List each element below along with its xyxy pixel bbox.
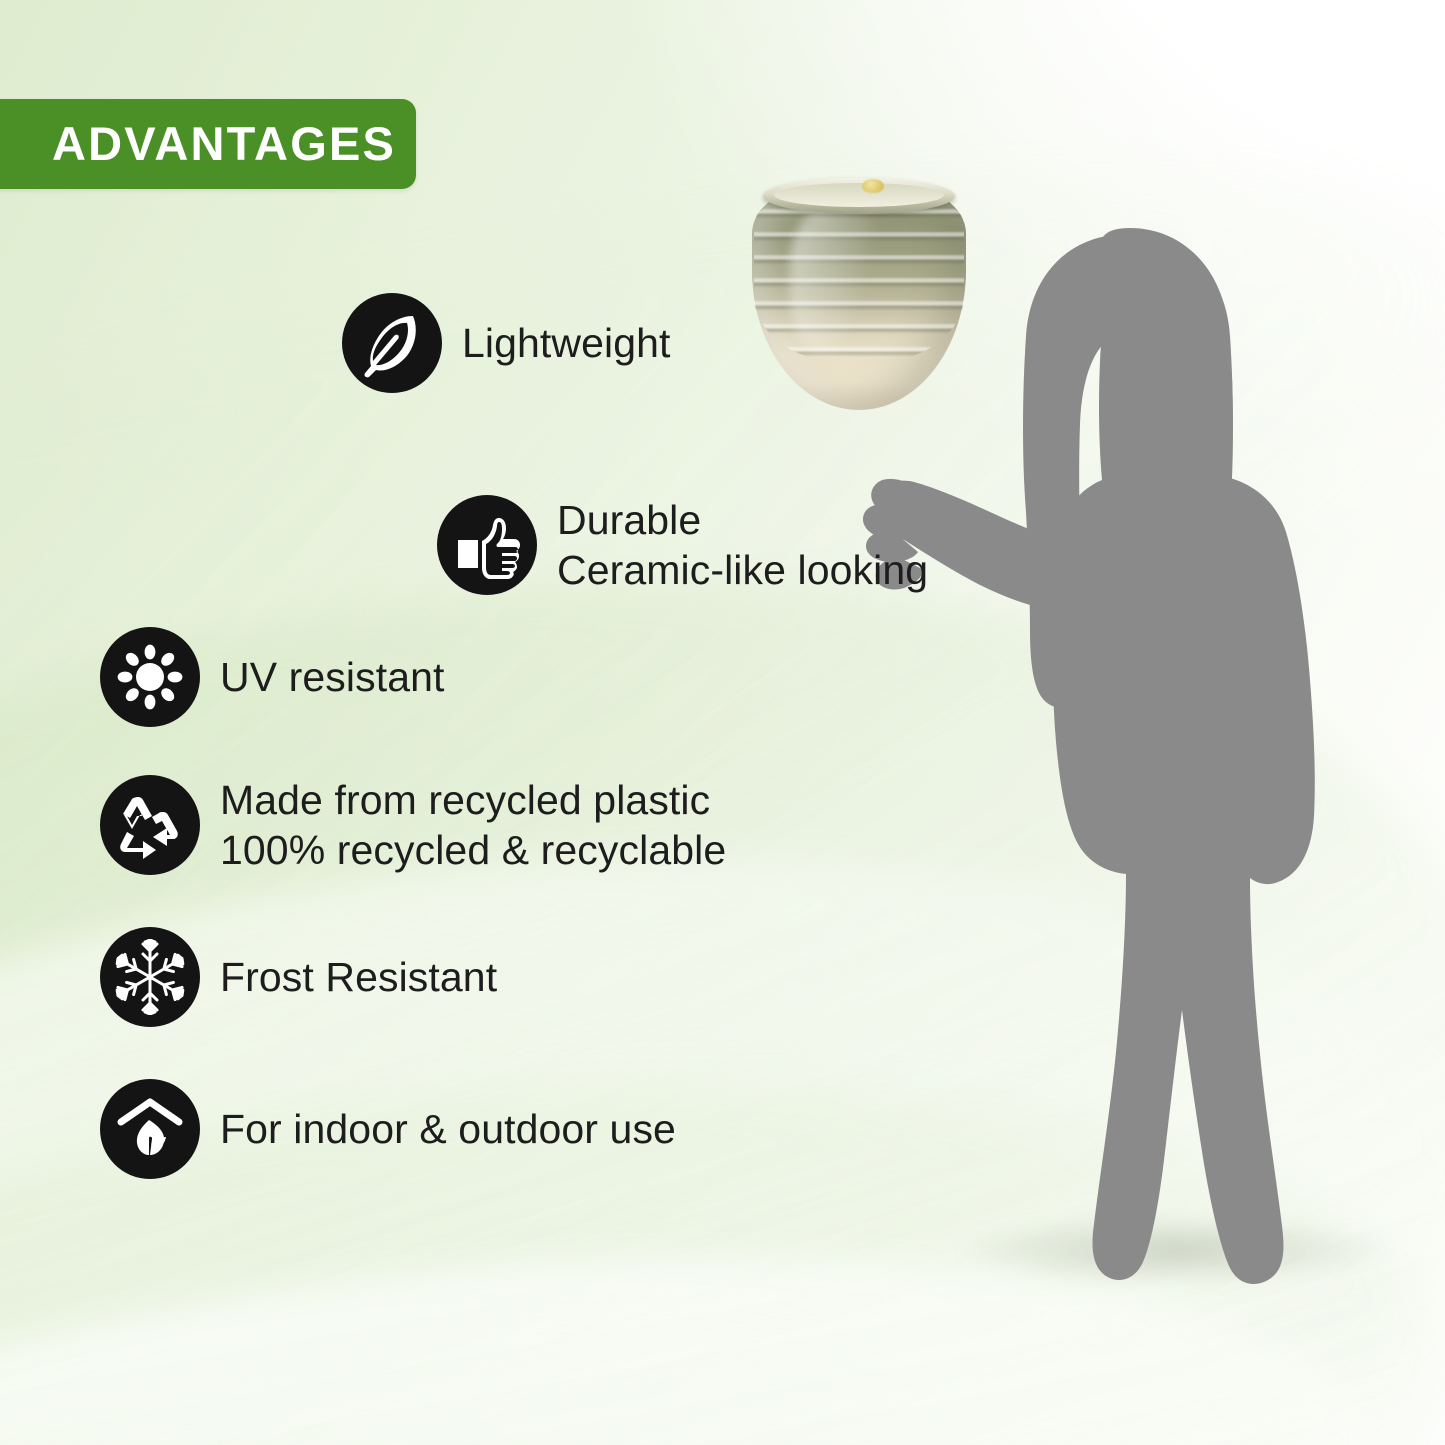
feature-label: Made from recycled plastic 100% recycled… [220,775,726,875]
feature-recycled: Made from recycled plastic 100% recycled… [100,775,726,875]
feature-indoor-outdoor: For indoor & outdoor use [100,1079,676,1179]
feature-label: Frost Resistant [220,952,497,1002]
feature-label: For indoor & outdoor use [220,1104,676,1154]
house-leaf-icon [100,1079,200,1179]
feather-icon [342,293,442,393]
pot-inner-soil [774,183,944,207]
planter-pot [752,178,966,410]
feature-uv-resistant: UV resistant [100,627,445,727]
advantages-badge: ADVANTAGES [0,99,416,189]
snowflake-icon [100,927,200,1027]
pot-highlight [790,206,886,356]
feature-label: Durable Ceramic-like looking [557,495,928,595]
thumbs-up-icon [437,495,537,595]
feature-durable: Durable Ceramic-like looking [437,495,928,595]
recycle-icon [100,775,200,875]
feature-label: Lightweight [462,318,671,368]
sun-icon [100,627,200,727]
feature-lightweight: Lightweight [342,293,671,393]
feature-frost-resistant: Frost Resistant [100,927,497,1027]
feature-label: UV resistant [220,652,445,702]
page-title: ADVANTAGES [52,99,396,189]
advantages-infographic: ADVANTAGES Lightweight [0,0,1445,1445]
pot-flower-bud [862,179,884,193]
